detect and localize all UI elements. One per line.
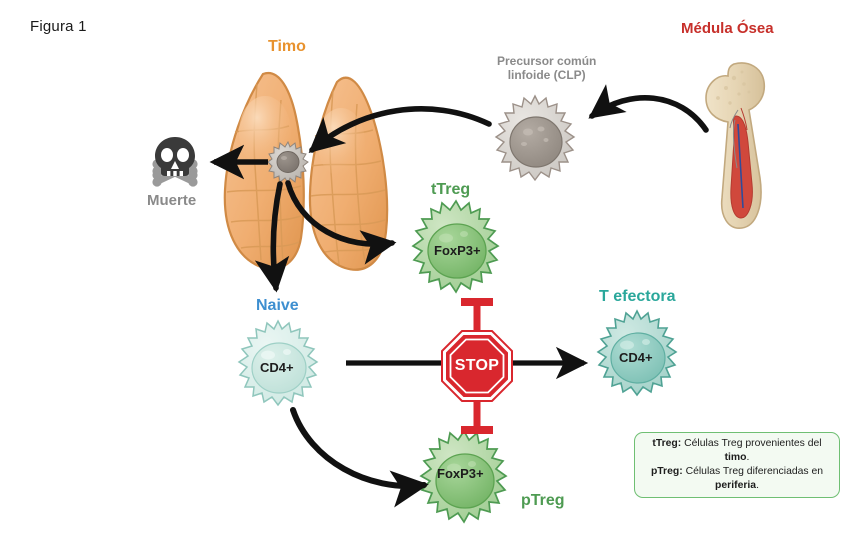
legend-term-ptreg: pTreg:	[651, 466, 683, 477]
legend-tail-ptreg: .	[756, 480, 759, 491]
arrow-naive-to-ptreg	[293, 410, 424, 486]
legend-emphasis-ptreg: periferia	[715, 480, 756, 491]
legend-text-ptreg: Células Treg diferenciadas en	[683, 466, 823, 477]
legend-line-ptreg: pTreg: Células Treg diferenciadas en per…	[642, 465, 832, 493]
legend-term-ttreg: tTreg:	[652, 438, 681, 449]
stop-octagon-icon[interactable]: STOP	[441, 330, 513, 402]
legend-box: tTreg: Células Treg provenientes del tim…	[634, 432, 840, 498]
arrow-bone-to-clp	[592, 98, 706, 130]
inhibition-ptreg	[461, 398, 493, 432]
legend-line-ttreg: tTreg: Células Treg provenientes del tim…	[642, 437, 832, 465]
inhibition-ttreg	[461, 300, 493, 334]
legend-emphasis-ttreg: timo	[725, 452, 747, 463]
arrow-thymus-to-ttreg	[288, 183, 392, 244]
arrow-clp-to-thymus	[312, 109, 489, 150]
arrow-thymus-to-naive	[273, 184, 280, 288]
legend-text-ttreg: Células Treg provenientes del	[681, 438, 821, 449]
legend-tail-ttreg: .	[747, 452, 750, 463]
figure-canvas: Figura 1	[0, 0, 853, 540]
